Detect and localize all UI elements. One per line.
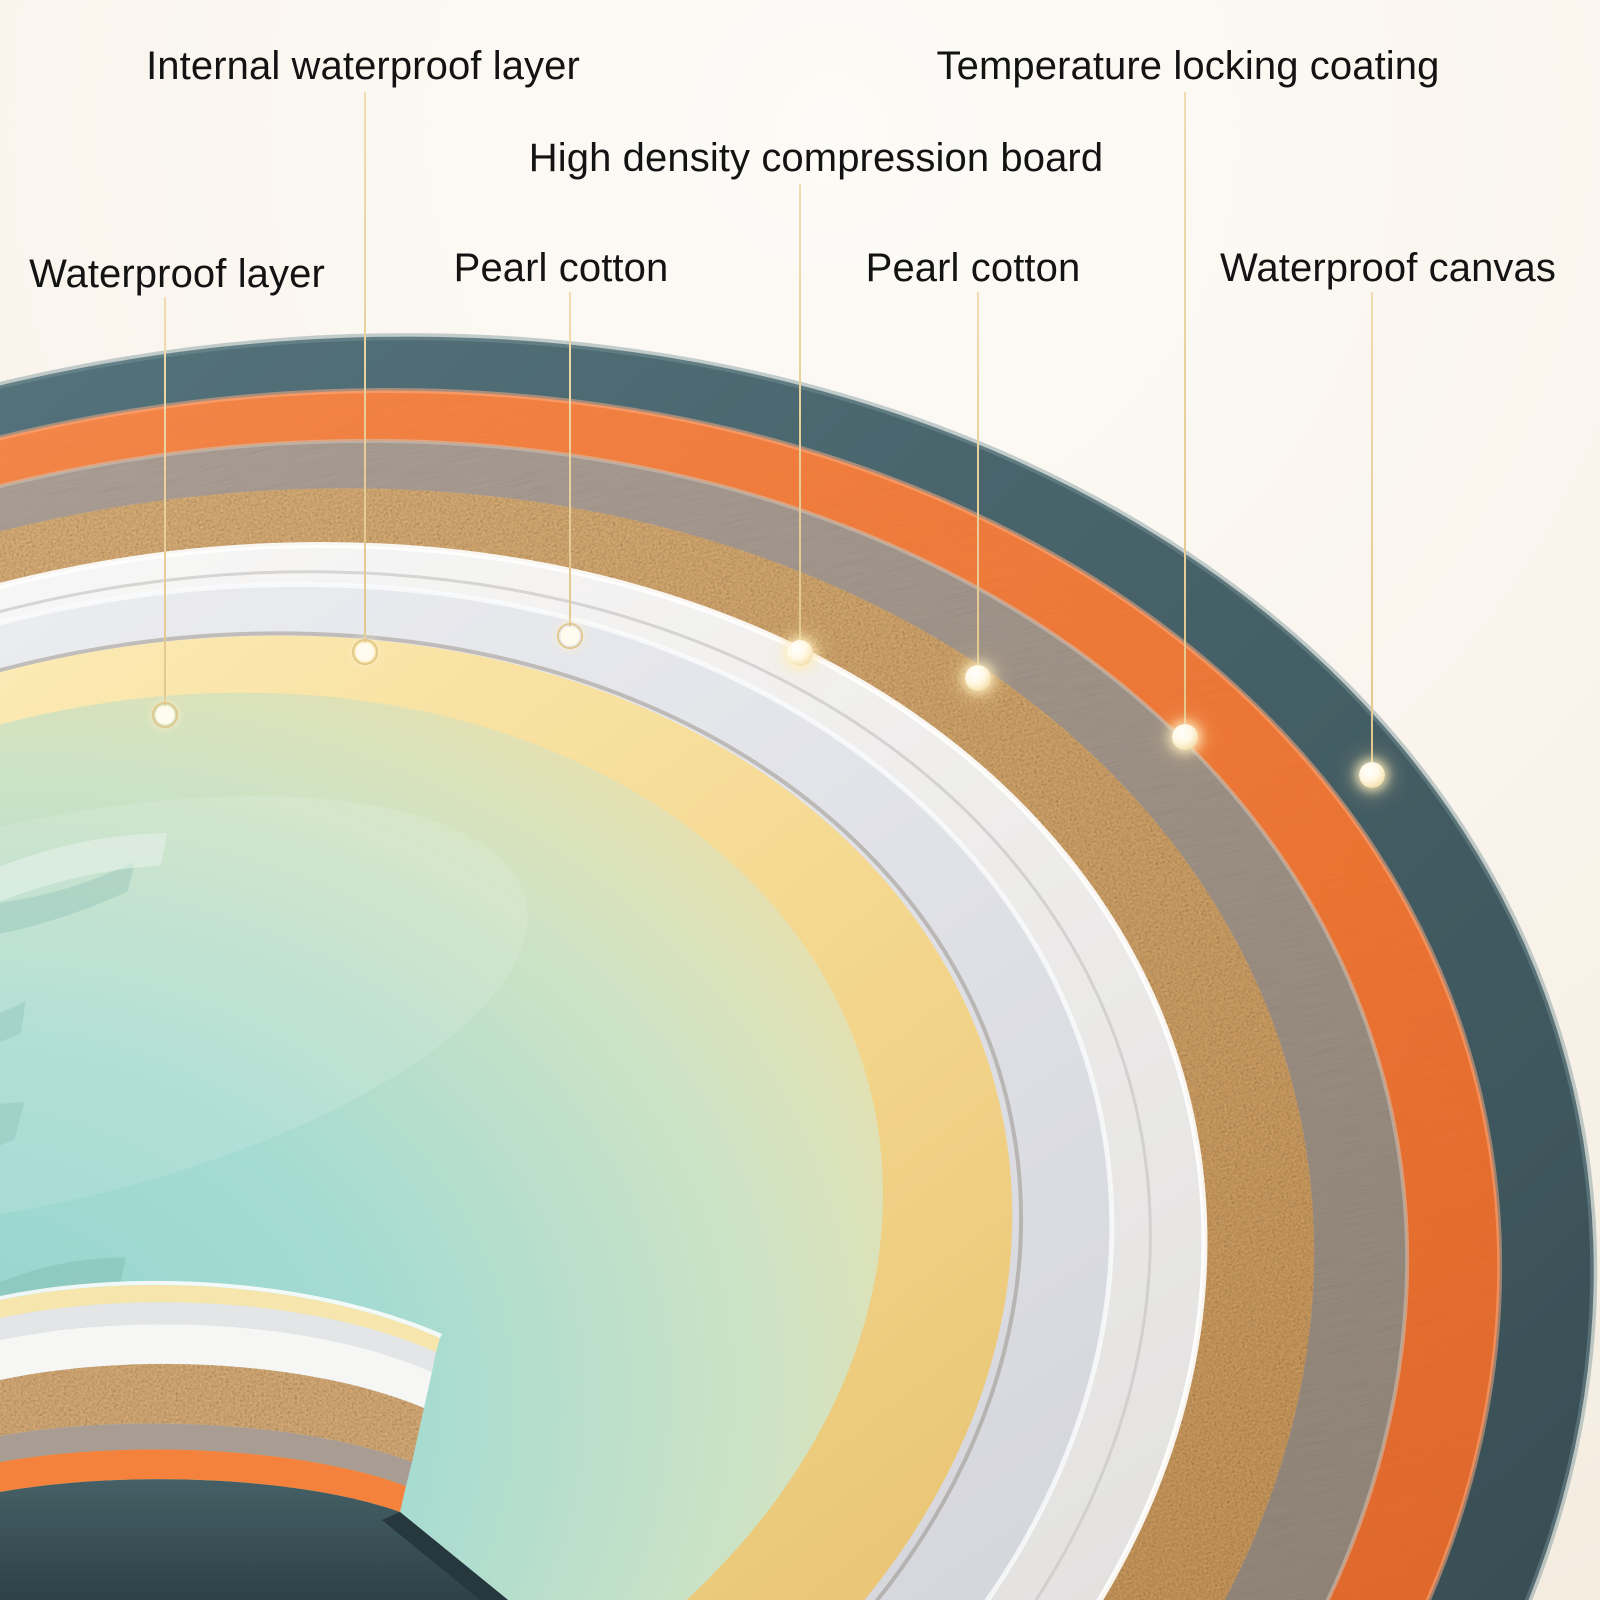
callout-label-waterproof-layer: Waterproof layer: [29, 254, 325, 294]
callout-label-high-density-compression-board: High density compression board: [529, 138, 1103, 178]
callout-leader-line-pearl-cotton-outer: [977, 292, 979, 678]
callout-endpoint-dot-temperature-locking-coating: [1172, 724, 1198, 750]
callout-endpoint-dot-waterproof-layer: [152, 702, 178, 728]
callout-endpoint-dot-pearl-cotton-inner: [557, 623, 583, 649]
callout-label-temperature-locking-coating: Temperature locking coating: [937, 46, 1440, 86]
product-layer-diagram: Waterproof layer Internal waterproof lay…: [0, 0, 1600, 1600]
callout-leader-line-pearl-cotton-inner: [569, 292, 571, 636]
callout-label-waterproof-canvas: Waterproof canvas: [1220, 248, 1556, 288]
callout-label-pearl-cotton-inner: Pearl cotton: [454, 248, 669, 288]
callout-endpoint-dot-waterproof-canvas: [1359, 762, 1385, 788]
callout-layer: Waterproof layer Internal waterproof lay…: [0, 0, 1600, 1600]
callout-leader-line-high-density-compression-board: [799, 184, 801, 653]
callout-leader-line-internal-waterproof-layer: [364, 92, 366, 652]
callout-label-pearl-cotton-outer: Pearl cotton: [866, 248, 1081, 288]
callout-leader-line-temperature-locking-coating: [1184, 92, 1186, 737]
callout-leader-line-waterproof-canvas: [1371, 292, 1373, 775]
callout-label-internal-waterproof-layer: Internal waterproof layer: [146, 46, 580, 86]
callout-endpoint-dot-high-density-compression-board: [787, 640, 813, 666]
callout-endpoint-dot-internal-waterproof-layer: [352, 639, 378, 665]
callout-endpoint-dot-pearl-cotton-outer: [965, 665, 991, 691]
callout-leader-line-waterproof-layer: [164, 297, 166, 715]
